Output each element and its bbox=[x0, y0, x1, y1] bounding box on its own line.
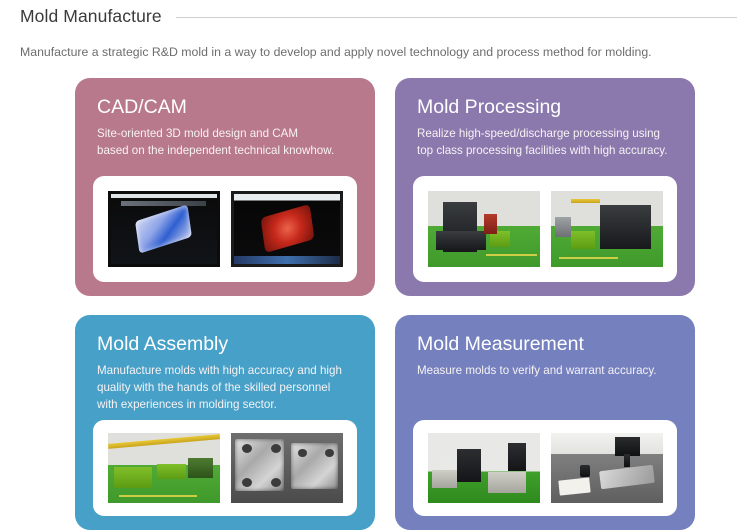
photo-panel bbox=[413, 420, 677, 516]
card-cadcam[interactable]: CAD/CAM Site-oriented 3D mold design and… bbox=[75, 78, 375, 296]
card-description-line: Measure molds to verify and warrant accu… bbox=[417, 362, 677, 379]
card-description: Measure molds to verify and warrant accu… bbox=[417, 362, 677, 379]
card-title: CAD/CAM bbox=[97, 96, 357, 118]
card-grid: CAD/CAM Site-oriented 3D mold design and… bbox=[0, 78, 745, 530]
card-title: Mold Measurement bbox=[417, 333, 677, 355]
card-description-line: quality with the hands of the skilled pe… bbox=[97, 379, 357, 396]
photo-panel bbox=[413, 176, 677, 282]
card-mold-assembly[interactable]: Mold Assembly Manufacture molds with hig… bbox=[75, 315, 375, 530]
page-header: Mold Manufacture bbox=[0, 2, 745, 30]
card-description-line: top class processing facilities with hig… bbox=[417, 142, 677, 159]
card-description-line: Realize high-speed/discharge processing … bbox=[417, 125, 677, 142]
photo-panel bbox=[93, 420, 357, 516]
card-description-line: Manufacture molds with high accuracy and… bbox=[97, 362, 357, 379]
photo-measuring-lab-equipment bbox=[428, 433, 540, 503]
card-title: Mold Assembly bbox=[97, 333, 357, 355]
card-mold-measurement[interactable]: Mold Measurement Measure molds to verify… bbox=[395, 315, 695, 530]
title-divider bbox=[176, 17, 737, 18]
intro-paragraph: Manufacture a strategic R&D mold in a wa… bbox=[0, 30, 745, 61]
card-description-line: Site-oriented 3D mold design and CAM bbox=[97, 125, 357, 142]
card-description: Realize high-speed/discharge processing … bbox=[417, 125, 677, 159]
photo-cad-monitor-blue-mold-model bbox=[108, 191, 220, 267]
card-description-line: based on the independent technical knowh… bbox=[97, 142, 357, 159]
card-description: Site-oriented 3D mold design and CAM bas… bbox=[97, 125, 357, 159]
card-title: Mold Processing bbox=[417, 96, 677, 118]
photo-factory-edm-machine-green-floor bbox=[428, 191, 540, 267]
photo-cmm-probe-granite-table bbox=[551, 433, 663, 503]
card-mold-processing[interactable]: Mold Processing Realize high-speed/disch… bbox=[395, 78, 695, 296]
card-description-line: with experiences in molding sector. bbox=[97, 396, 357, 413]
photo-steel-mold-halves-on-floor bbox=[231, 433, 343, 503]
photo-cad-monitor-red-wireframe-model bbox=[231, 191, 343, 267]
photo-assembly-shop-overhead-crane bbox=[108, 433, 220, 503]
card-description: Manufacture molds with high accuracy and… bbox=[97, 362, 357, 413]
page-title: Mold Manufacture bbox=[20, 6, 162, 27]
photo-panel bbox=[93, 176, 357, 282]
photo-factory-cnc-machine-green-floor bbox=[551, 191, 663, 267]
